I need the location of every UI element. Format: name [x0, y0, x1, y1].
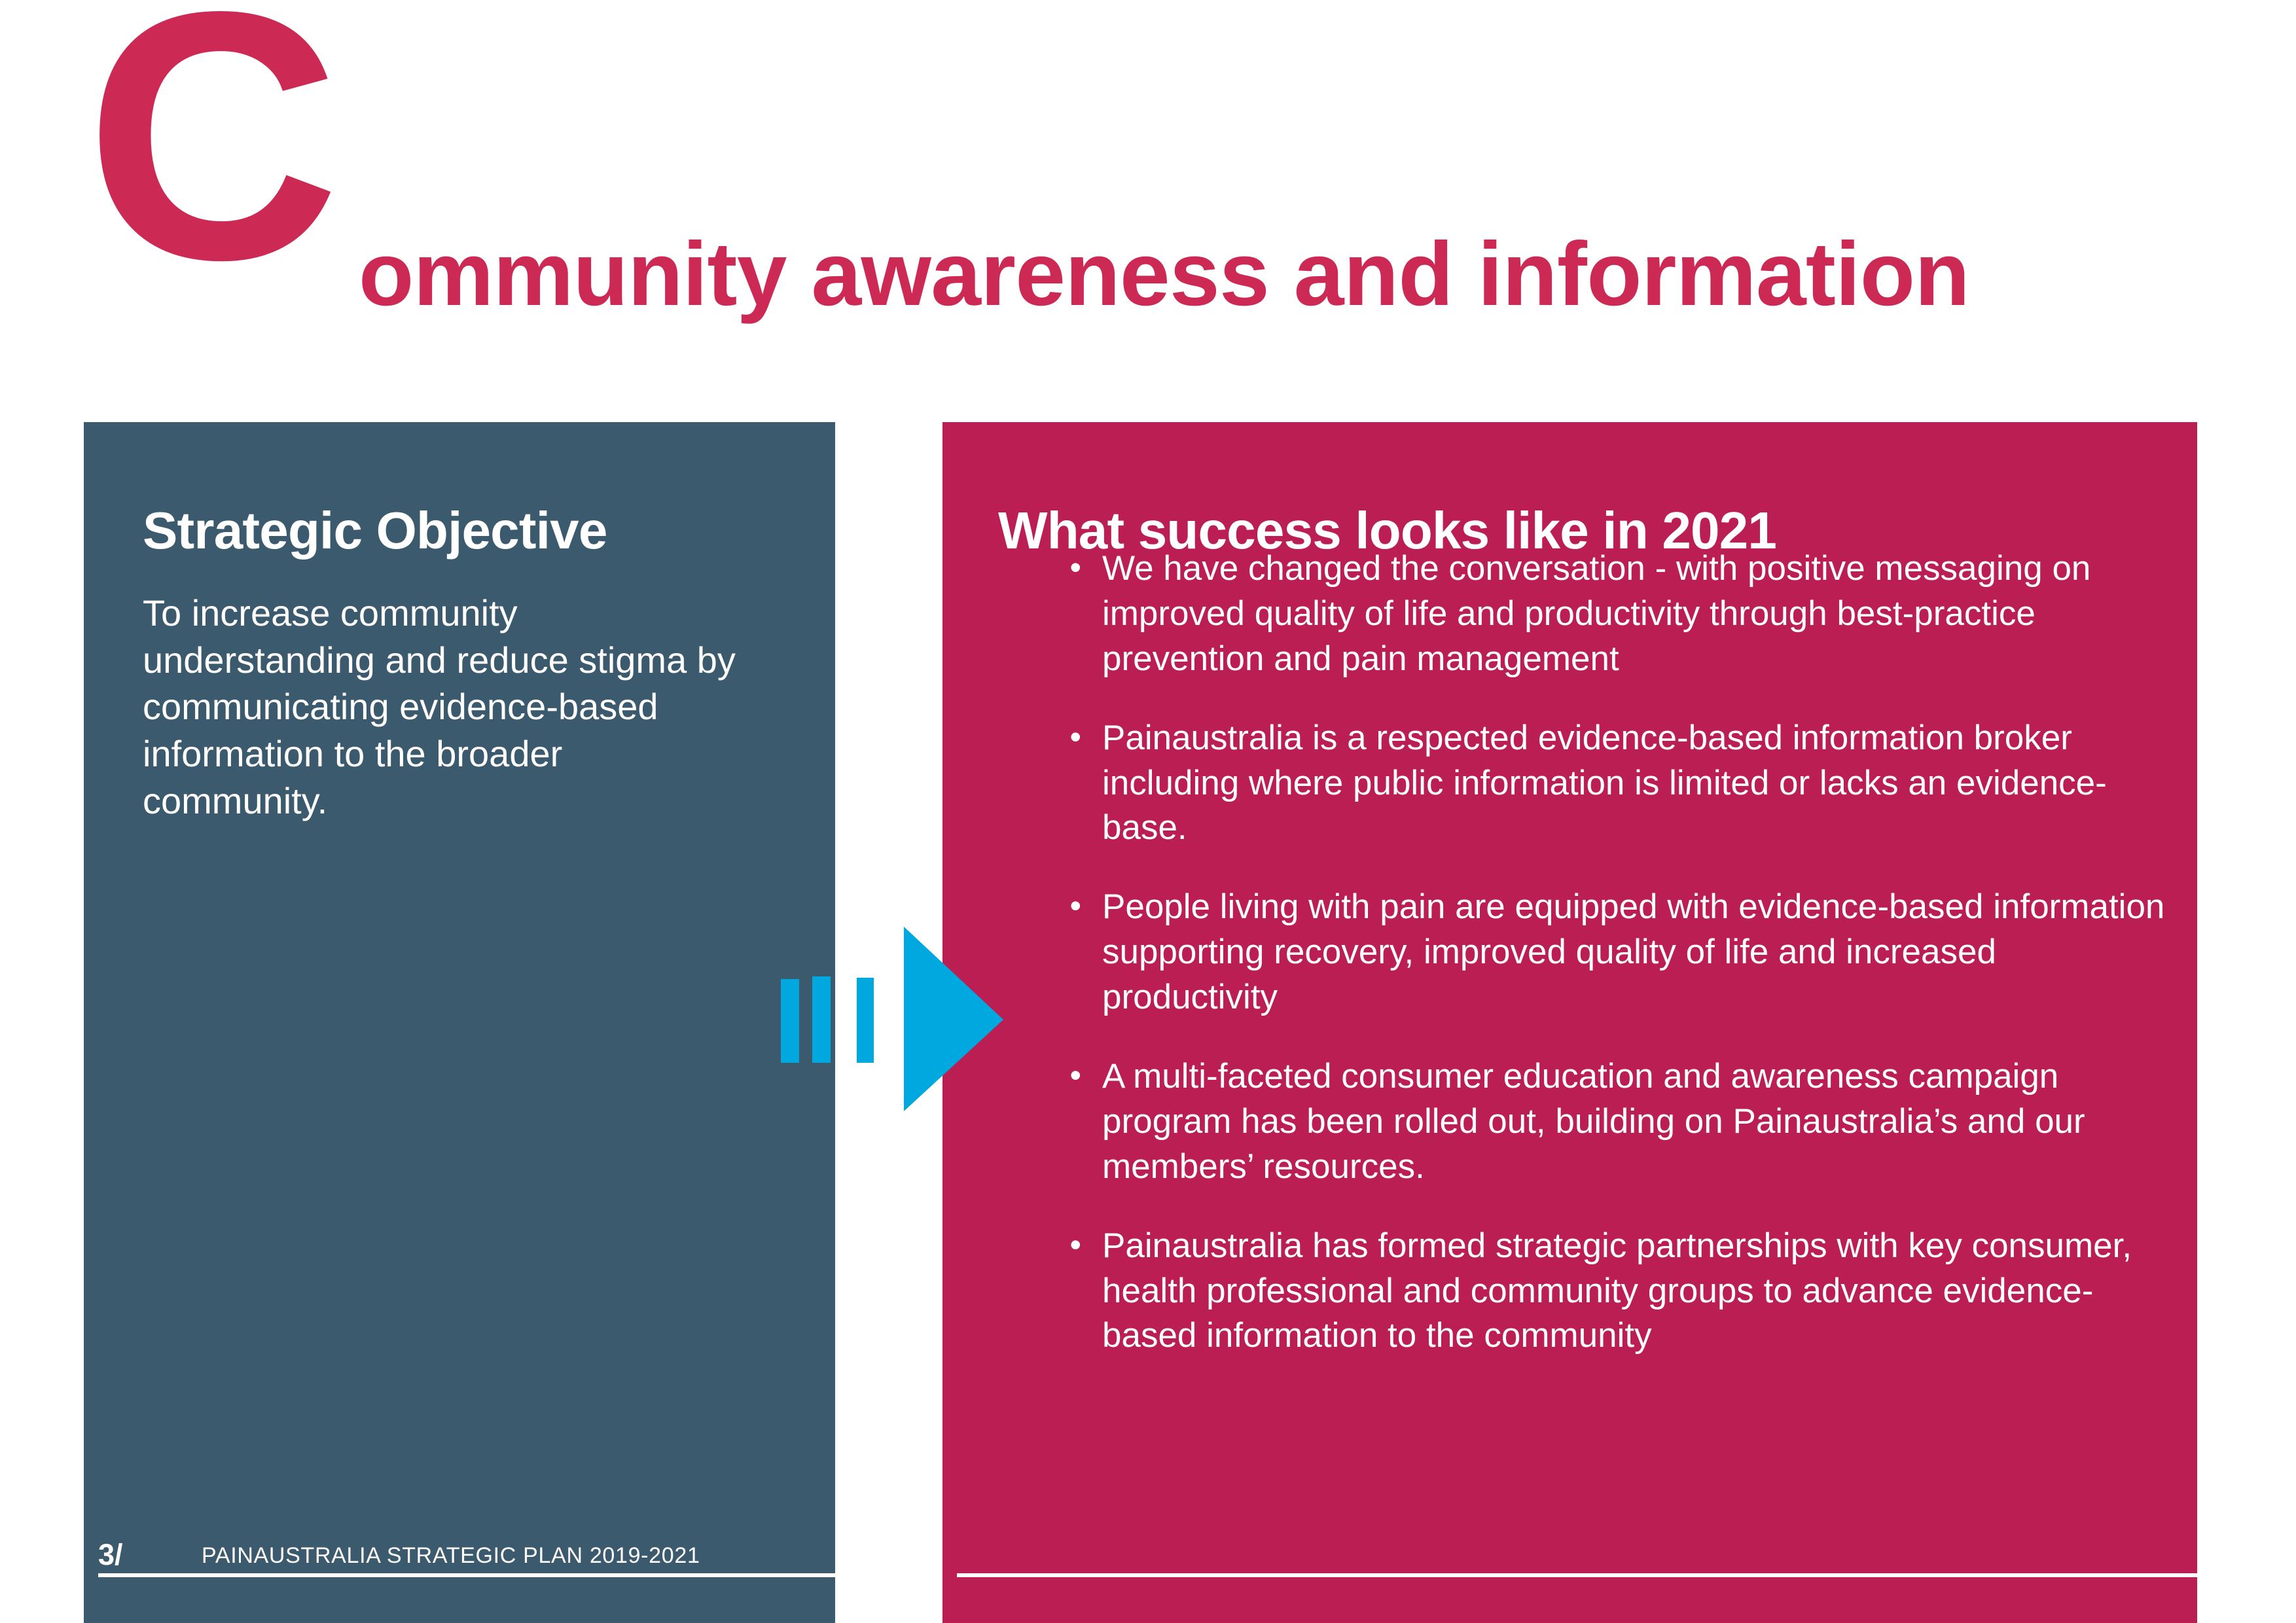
strategic-objective-body: To increase community understanding and …: [143, 590, 745, 824]
list-item: •People living with pain are equipped wi…: [942, 885, 2197, 1020]
page-number: 3/: [98, 1540, 123, 1569]
strategic-objective-panel: Strategic Objective To increase communit…: [84, 422, 835, 1623]
footer-divider: [98, 1573, 835, 1577]
title-text: ommunity awareness and information: [359, 229, 1969, 319]
slide-footer: 3/ PAINAUSTRALIA STRATEGIC PLAN 2019-202…: [84, 1518, 835, 1623]
bullet-point-icon: •: [996, 1224, 1081, 1266]
strategic-objective-heading: Strategic Objective: [143, 505, 607, 557]
bullet-point-icon: •: [996, 546, 1081, 589]
bullet-point-icon: •: [996, 716, 1081, 758]
list-item-label: Painaustralia has formed strategic partn…: [1102, 1224, 2176, 1359]
title-drop-cap: C: [85, 0, 333, 313]
flow-arrow-icon: [762, 916, 1024, 1113]
success-criteria-list: •We have changed the conversation - with…: [942, 546, 2197, 1393]
success-criteria-panel: What success looks like in 2021 •We have…: [942, 422, 2197, 1623]
list-item: •A multi-faceted consumer education and …: [942, 1054, 2197, 1190]
page-title: C ommunity awareness and information: [0, 0, 2296, 366]
list-item: •Painaustralia has formed strategic part…: [942, 1224, 2197, 1359]
list-item-label: People living with pain are equipped wit…: [1102, 885, 2176, 1020]
list-item-label: Painaustralia is a respected evidence-ba…: [1102, 716, 2176, 851]
list-item-label: A multi-faceted consumer education and a…: [1102, 1054, 2176, 1190]
list-item: •We have changed the conversation - with…: [942, 546, 2197, 682]
success-panel-divider: [957, 1573, 2197, 1577]
footer-document-title: PAINAUSTRALIA STRATEGIC PLAN 2019-2021: [202, 1544, 700, 1567]
list-item-label: We have changed the conversation - with …: [1102, 546, 2176, 682]
list-item: •Painaustralia is a respected evidence-b…: [942, 716, 2197, 851]
